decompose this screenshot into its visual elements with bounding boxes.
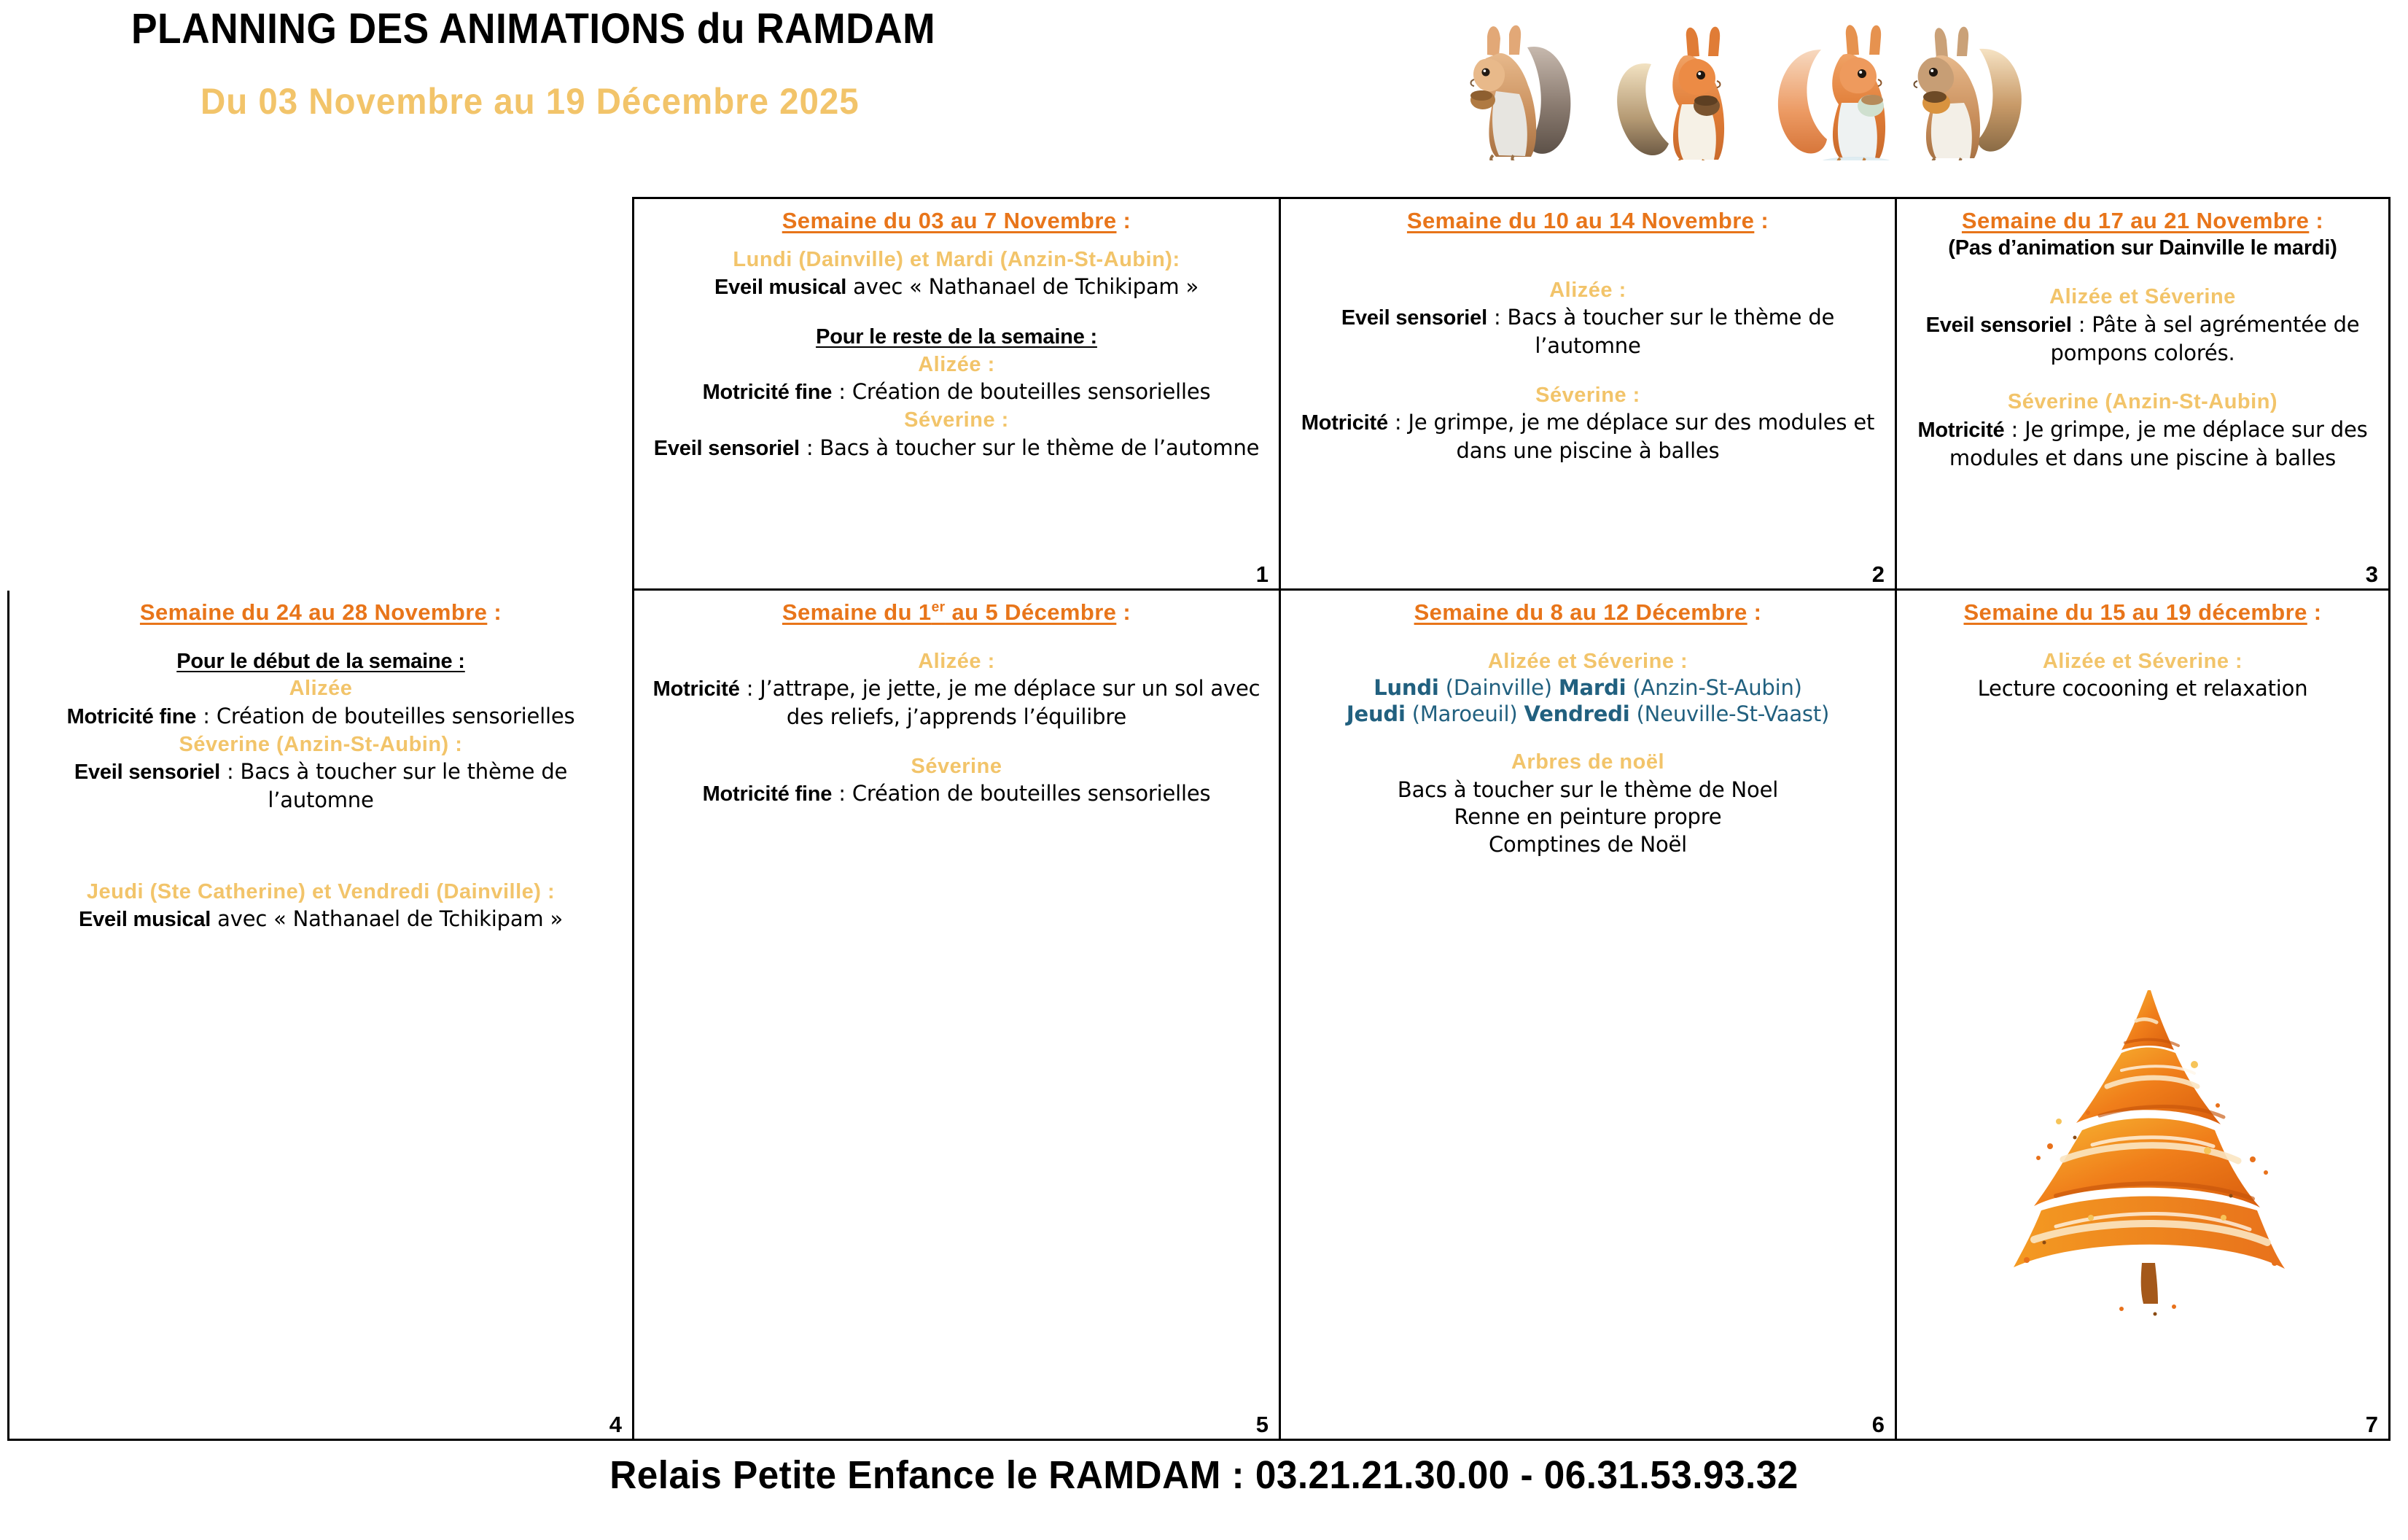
week-title-4: Semaine du 24 au 28 Novembre :: [18, 599, 623, 626]
page-subtitle: Du 03 Novembre au 19 Décembre 2025: [200, 80, 860, 122]
planning-poster: PLANNING DES ANIMATIONS du RAMDAM Du 03 …: [0, 0, 2408, 1540]
subject-line: Alizée :: [1290, 277, 1886, 305]
subject-line: Séverine :: [643, 407, 1270, 435]
days-line-1: Lundi (Dainville) Mardi (Anzin-St-Aubin): [1290, 675, 1886, 701]
cell-number: 2: [1872, 563, 1885, 586]
subject-line: Séverine (Anzin-St-Aubin) :: [18, 731, 623, 759]
section-label: Pour le début de la semaine :: [18, 648, 623, 676]
days-line-2: Jeudi (Maroeuil) Vendredi (Neuville-St-V…: [1290, 701, 1886, 727]
activity-line: Renne en peinture propre: [1290, 804, 1886, 831]
poster-header: PLANNING DES ANIMATIONS du RAMDAM Du 03 …: [0, 0, 2408, 182]
table-cell-week-4: Semaine du 24 au 28 Novembre : Pour le d…: [7, 591, 634, 1441]
activity-line: Lecture cocooning et relaxation: [1906, 675, 2380, 703]
activity-line: Eveil sensoriel : Bacs à toucher sur le …: [1290, 304, 1886, 359]
cell-number: 3: [2366, 563, 2378, 586]
activity-line: Motricité fine : Création de bouteilles …: [643, 378, 1270, 407]
subject-line: Alizée et Séverine: [1906, 284, 2380, 311]
cell-number: 1: [1256, 563, 1269, 586]
table-cell-decor-tree: [7, 197, 634, 591]
subject-line: Alizée :: [643, 648, 1270, 676]
cell-number: 7: [2366, 1413, 2378, 1436]
subject-line: Séverine: [643, 753, 1270, 781]
week-title-1: Semaine du 03 au 7 Novembre :: [643, 208, 1270, 235]
week-title-2: Semaine du 10 au 14 Novembre :: [1290, 208, 1886, 235]
activity-line: Motricité : J’attrape, je jette, je me d…: [643, 675, 1270, 731]
subject-line: Alizée: [18, 675, 623, 703]
table-cell-week-2: Semaine du 10 au 14 Novembre : Alizée : …: [1279, 197, 1897, 591]
subject-line: Alizée :: [643, 351, 1270, 379]
week-title-3: Semaine du 17 au 21 Novembre :: [1906, 208, 2380, 235]
subject-line: Séverine (Anzin-St-Aubin): [1906, 389, 2380, 416]
activity-line: Motricité fine : Création de bouteilles …: [643, 780, 1270, 809]
section-label: Pour le reste de la semaine :: [643, 324, 1270, 351]
footer-contact: Relais Petite Enfance le RAMDAM : 03.21.…: [61, 1452, 2348, 1498]
christmas-tree-icon: [2012, 977, 2289, 1320]
table-cell-week-1: Semaine du 03 au 7 Novembre : Lundi (Dai…: [632, 197, 1281, 591]
table-row: Semaine du 03 au 7 Novembre : Lundi (Dai…: [7, 197, 2395, 591]
subject-line: Alizée et Séverine :: [1906, 648, 2380, 676]
four-squirrels-icon: [1451, 4, 2034, 160]
table-cell-week-6: Semaine du 8 au 12 Décembre : Alizée et …: [1279, 591, 1897, 1441]
cell-number: 4: [609, 1413, 622, 1436]
note-line: (Pas d’animation sur Dainville le mardi): [1906, 235, 2380, 262]
cell-number: 5: [1256, 1413, 1269, 1436]
activity-line: Comptines de Noël: [1290, 831, 1886, 859]
table-cell-week-3: Semaine du 17 au 21 Novembre : (Pas d’an…: [1895, 197, 2391, 591]
table-cell-week-5: Semaine du 1er au 5 Décembre : Alizée : …: [632, 591, 1281, 1441]
activity-line: Eveil sensoriel : Pâte à sel agrémentée …: [1906, 311, 2380, 367]
week-title-6: Semaine du 8 au 12 Décembre :: [1290, 599, 1886, 626]
subject-line: Alizée et Séverine :: [1290, 648, 1886, 676]
week-title-5: Semaine du 1er au 5 Décembre :: [643, 599, 1270, 626]
subject-line: Lundi (Dainville) et Mardi (Anzin-St-Aub…: [643, 246, 1270, 274]
activity-line: Eveil sensoriel : Bacs à toucher sur le …: [643, 435, 1270, 463]
activity-line: Motricité : Je grimpe, je me déplace sur…: [1906, 416, 2380, 472]
week-title-7: Semaine du 15 au 19 décembre :: [1906, 599, 2380, 626]
activity-line: Motricité : Je grimpe, je me déplace sur…: [1290, 409, 1886, 464]
page-title: PLANNING DES ANIMATIONS du RAMDAM: [131, 4, 935, 53]
activity-line: Eveil musical avec « Nathanael de Tchiki…: [643, 273, 1270, 302]
activity-line: Eveil sensoriel : Bacs à toucher sur le …: [18, 758, 623, 814]
subject-line: Séverine :: [1290, 382, 1886, 410]
activity-line: Bacs à toucher sur le thème de Noel: [1290, 777, 1886, 804]
activity-line: Eveil musical avec « Nathanael de Tchiki…: [18, 906, 623, 934]
activity-line: Motricité fine : Création de bouteilles …: [18, 703, 623, 731]
cell-number: 6: [1872, 1413, 1885, 1436]
subject-line: Arbres de noël: [1290, 749, 1886, 777]
subject-line: Jeudi (Ste Catherine) et Vendredi (Dainv…: [18, 879, 623, 906]
